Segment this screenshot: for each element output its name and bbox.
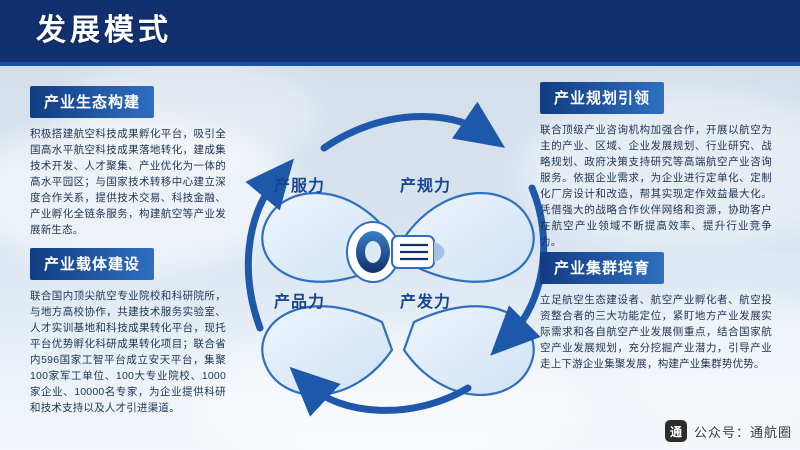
block-body-plan: 联合顶级产业咨询机构加强合作，开展以航空为主的产业、区域、企业发展规划、行业研究…: [540, 122, 772, 250]
arrow-top-right-icon: [324, 116, 482, 148]
petal-chanpin-shape: [262, 306, 392, 395]
pinwheel-diagram: 产服力 产规力 产品力 产发力: [232, 70, 562, 430]
block-body-cluster: 立足航空生态建设者、航空产业孵化者、航空投资整合者的三大功能定位，紧盯地方产业发…: [540, 292, 772, 372]
header-underline: [0, 62, 800, 66]
block-title-eco: 产业生态构建: [30, 86, 154, 118]
block-title-carrier: 产业载体建设: [30, 248, 154, 280]
block-industry-cluster: 产业集群培育 立足航空生态建设者、航空产业孵化者、航空投资整合者的三大功能定位，…: [540, 252, 772, 372]
petal-label-chanpin: 产品力: [274, 288, 325, 312]
block-title-plan: 产业规划引领: [540, 82, 664, 114]
page-title: 发展模式: [36, 16, 172, 46]
block-body-carrier: 联合国内顶尖航空专业院校和科研院所，与地方高校协作，共建技术服务实验室、人才实训…: [30, 288, 226, 416]
petal-label-chanfu: 产服力: [274, 172, 325, 196]
petal-chanfa-shape: [404, 306, 534, 395]
petal-label-chanfa: 产发力: [400, 288, 451, 312]
pinwheel-svg: [232, 70, 562, 430]
watermark-text: 公众号：通航圈: [694, 422, 792, 441]
block-industry-carrier: 产业载体建设 联合国内顶尖航空专业院校和科研院所，与地方高校协作，共建技术服务实…: [30, 248, 226, 416]
watermark: 通 公众号：通航圈: [665, 420, 792, 442]
watermark-badge-icon: 通: [665, 420, 687, 442]
slide-canvas: 发展模式: [0, 0, 800, 450]
block-industry-ecosystem: 产业生态构建 积极搭建航空科技成果孵化平台，吸引全国高水平航空科技成果落地转化，…: [30, 86, 226, 238]
block-body-eco: 积极搭建航空科技成果孵化平台，吸引全国高水平航空科技成果落地转化，建成集技术开发…: [30, 126, 226, 238]
block-title-cluster: 产业集群培育: [540, 252, 664, 284]
slide-header: 发展模式: [0, 0, 800, 62]
block-industry-planning: 产业规划引领 联合顶级产业咨询机构加强合作，开展以航空为主的产业、区域、企业发展…: [540, 82, 772, 250]
petal-label-changui: 产规力: [400, 172, 451, 196]
